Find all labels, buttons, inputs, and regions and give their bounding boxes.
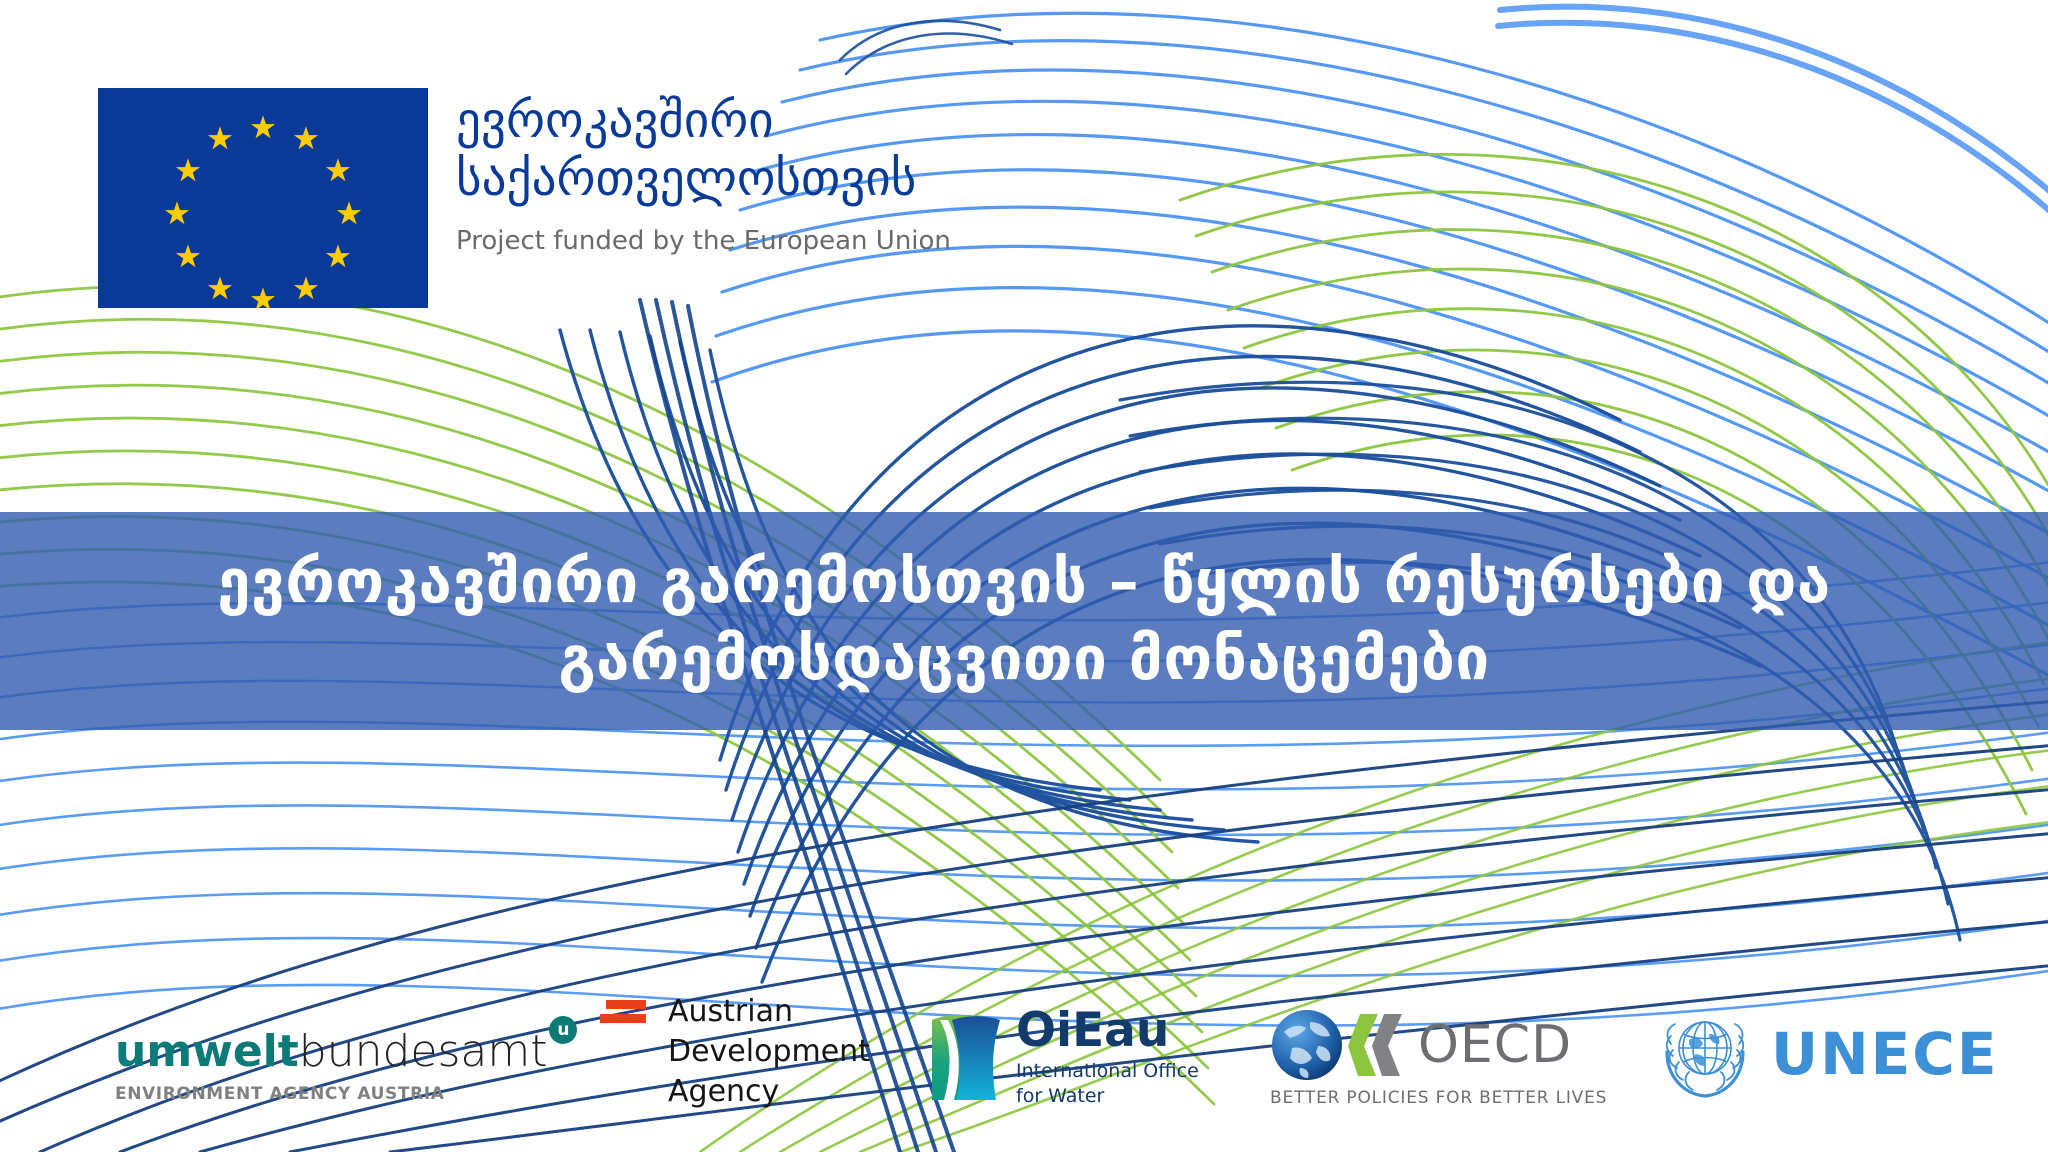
ada-line2: Development (668, 1032, 870, 1072)
ada-line3: Agency (668, 1072, 870, 1112)
umweltbundesamt-wordmark: umweltbundesamtu (115, 1030, 547, 1074)
page-title: ევროკავშირი გარემოსთვის – წყლის რესურსებ… (144, 544, 1904, 698)
umweltbundesamt-light-part: bundesamt (299, 1026, 548, 1077)
oecd-row: OECD (1270, 1008, 1607, 1082)
oieau-water-icon (930, 1012, 1002, 1104)
austria-flag-icon (600, 1000, 646, 1028)
un-emblem-icon (1655, 1004, 1755, 1104)
oieau-subtitle-line1: International Office (1016, 1059, 1199, 1083)
oieau-subtitle-line2: for Water (1016, 1084, 1199, 1108)
eu-flag (98, 88, 428, 308)
logo-austrian-development-agency: Austrian Development Agency (600, 992, 870, 1112)
eu-logo-tagline: Project funded by the European Union (456, 226, 951, 256)
page-title-line2: გარემოსდაცვითი მონაცემები (144, 621, 1904, 698)
umweltbundesamt-superscript-icon: u (549, 1016, 577, 1044)
logo-unece: UNECE (1655, 1004, 1998, 1104)
unece-title: UNECE (1771, 1025, 1998, 1083)
eu-logo-text: ევროკავშირი საქართველოსთვის Project fund… (456, 88, 951, 256)
oecd-chevrons-icon (1348, 1010, 1408, 1080)
partner-logo-strip: umweltbundesamtu ENVIRONMENT AGENCY AUST… (0, 1014, 2048, 1134)
eu-flag-stars-icon (98, 88, 428, 308)
umweltbundesamt-bold-part: umwelt (115, 1026, 299, 1077)
title-banner: ევროკავშირი გარემოსთვის – წყლის რესურსებ… (0, 512, 2048, 730)
logo-umweltbundesamt: umweltbundesamtu ENVIRONMENT AGENCY AUST… (115, 1030, 547, 1104)
oieau-wordmark: OiEau International Office for Water (1016, 1007, 1199, 1108)
oieau-title: OiEau (1016, 1007, 1199, 1054)
oieau-subtitle: International Office for Water (1016, 1059, 1199, 1108)
ada-line1: Austrian (668, 992, 870, 1032)
logo-oieau: OiEau International Office for Water (930, 1007, 1199, 1108)
oecd-tagline: BETTER POLICIES FOR BETTER LIVES (1270, 1088, 1607, 1108)
eu-funding-logo: ევროკავშირი საქართველოსთვის Project fund… (98, 88, 951, 308)
eu-logo-line2: საქართველოსთვის (456, 150, 951, 208)
oecd-globe-icon (1270, 1008, 1344, 1082)
presentation-slide: ევროკავშირი საქართველოსთვის Project fund… (0, 0, 2048, 1152)
page-title-line1: ევროკავშირი გარემოსთვის – წყლის რესურსებ… (144, 544, 1904, 621)
ada-wordmark: Austrian Development Agency (668, 992, 870, 1112)
umweltbundesamt-subtitle: ENVIRONMENT AGENCY AUSTRIA (115, 1084, 547, 1104)
logo-oecd: OECD BETTER POLICIES FOR BETTER LIVES (1270, 1008, 1607, 1108)
eu-logo-line1: ევროკავშირი (456, 92, 951, 150)
oecd-title: OECD (1418, 1019, 1572, 1071)
